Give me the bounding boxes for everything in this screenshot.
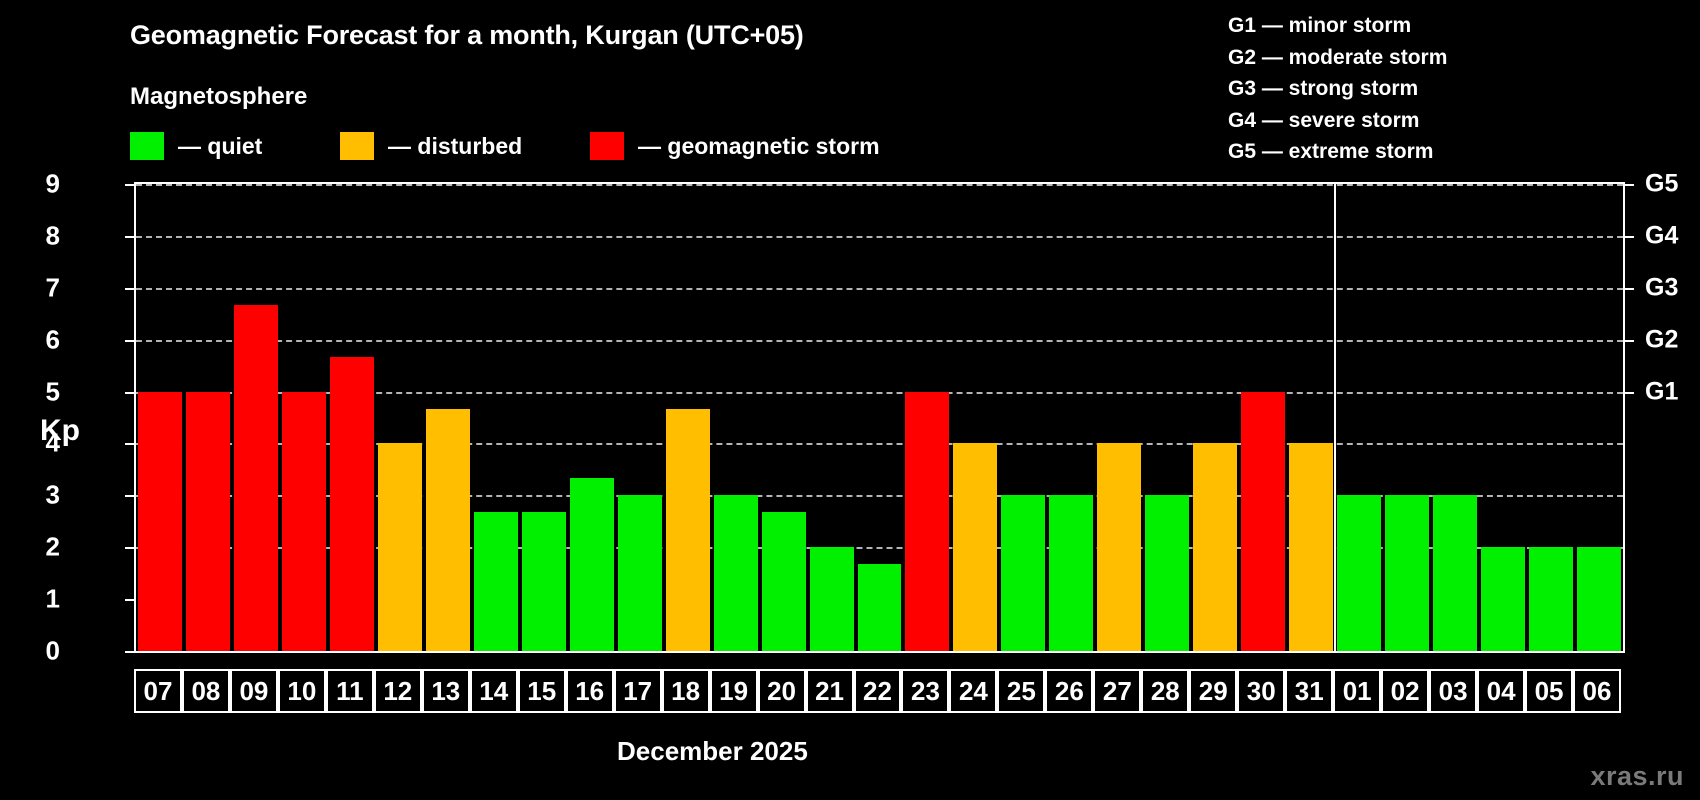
x-axis-date-labels: 0708091011121314151617181920212223242526…: [134, 669, 1625, 713]
date-cell-21: 21: [806, 669, 854, 713]
gridline-kp-7: [136, 288, 1623, 290]
geomagnetic-forecast-chart: Geomagnetic Forecast for a month, Kurgan…: [0, 0, 1700, 800]
y-tick-label-8: 8: [20, 220, 60, 251]
bar-08: [186, 392, 230, 651]
legend-label: — quiet: [178, 133, 262, 160]
bar-10: [282, 392, 326, 651]
bar-13: [426, 409, 470, 651]
legend-item-quiet: — quiet: [130, 131, 262, 161]
bar-22: [858, 564, 902, 651]
date-cell-15: 15: [518, 669, 566, 713]
gridline-kp-8: [136, 236, 1623, 238]
g-tick-label-G5: G5: [1645, 170, 1678, 199]
date-cell-02: 02: [1381, 669, 1429, 713]
date-cell-16: 16: [566, 669, 614, 713]
date-cell-09: 09: [230, 669, 278, 713]
y-tick-label-2: 2: [20, 532, 60, 563]
date-cell-23: 23: [901, 669, 949, 713]
date-cell-01: 01: [1333, 669, 1381, 713]
bar-11: [330, 357, 374, 651]
bar-17: [618, 495, 662, 651]
date-cell-03: 03: [1429, 669, 1477, 713]
y-tick-label-3: 3: [20, 480, 60, 511]
bar-20: [762, 512, 806, 651]
bar-25: [1001, 495, 1045, 651]
bar-09: [234, 305, 278, 651]
x-axis-title: December 2025: [617, 736, 808, 767]
g-tick-label-G4: G4: [1645, 221, 1678, 250]
legend-label: — geomagnetic storm: [638, 133, 880, 160]
forecast-divider: [1334, 184, 1336, 651]
date-cell-08: 08: [182, 669, 230, 713]
date-cell-11: 11: [326, 669, 374, 713]
gridline-kp-9: [136, 184, 1623, 186]
storm-scale-line-3: G3 — strong storm: [1228, 73, 1447, 105]
bar-06: [1577, 547, 1621, 651]
watermark: xras.ru: [1590, 761, 1684, 792]
date-cell-14: 14: [470, 669, 518, 713]
g-tick-label-G2: G2: [1645, 325, 1678, 354]
date-cell-10: 10: [278, 669, 326, 713]
gridline-kp-6: [136, 340, 1623, 342]
bar-29: [1193, 443, 1237, 651]
bar-01: [1337, 495, 1381, 651]
bar-07: [138, 392, 182, 651]
bar-23: [905, 392, 949, 651]
date-cell-18: 18: [662, 669, 710, 713]
date-cell-22: 22: [854, 669, 902, 713]
date-cell-30: 30: [1237, 669, 1285, 713]
date-cell-13: 13: [422, 669, 470, 713]
magnetosphere-label: Magnetosphere: [130, 83, 307, 111]
bar-14: [474, 512, 518, 651]
bar-28: [1145, 495, 1189, 651]
y-tick-label-7: 7: [20, 272, 60, 303]
y-tick-label-0: 0: [20, 636, 60, 667]
bar-02: [1385, 495, 1429, 651]
y-tick-label-1: 1: [20, 584, 60, 615]
legend-label: — disturbed: [388, 133, 522, 160]
date-cell-26: 26: [1045, 669, 1093, 713]
date-cell-31: 31: [1285, 669, 1333, 713]
date-cell-24: 24: [949, 669, 997, 713]
bar-15: [522, 512, 566, 651]
date-cell-06: 06: [1573, 669, 1621, 713]
date-cell-29: 29: [1189, 669, 1237, 713]
quiet-swatch: [130, 132, 164, 160]
bar-26: [1049, 495, 1093, 651]
storm-swatch: [590, 132, 624, 160]
y-tick-label-9: 9: [20, 169, 60, 200]
bar-24: [953, 443, 997, 651]
date-cell-07: 07: [134, 669, 182, 713]
date-cell-28: 28: [1141, 669, 1189, 713]
bar-27: [1097, 443, 1141, 651]
date-cell-20: 20: [758, 669, 806, 713]
disturbed-swatch: [340, 132, 374, 160]
storm-scale-legend: G1 — minor stormG2 — moderate stormG3 — …: [1228, 10, 1447, 168]
date-cell-27: 27: [1093, 669, 1141, 713]
y-axis-title: Kp: [40, 414, 80, 448]
date-cell-12: 12: [374, 669, 422, 713]
y-tick-label-5: 5: [20, 376, 60, 407]
g-tick-label-G3: G3: [1645, 273, 1678, 302]
storm-scale-line-1: G1 — minor storm: [1228, 10, 1447, 42]
legend-item-disturbed: — disturbed: [340, 131, 522, 161]
plot-area: [134, 182, 1625, 653]
bar-04: [1481, 547, 1525, 651]
bar-12: [378, 443, 422, 651]
y-tick-label-6: 6: [20, 324, 60, 355]
bar-30: [1241, 392, 1285, 651]
page-title: Geomagnetic Forecast for a month, Kurgan…: [130, 20, 804, 51]
g-tick-label-G1: G1: [1645, 377, 1678, 406]
bar-18: [666, 409, 710, 651]
date-cell-19: 19: [710, 669, 758, 713]
storm-scale-line-5: G5 — extreme storm: [1228, 136, 1447, 168]
bar-31: [1289, 443, 1333, 651]
date-cell-17: 17: [614, 669, 662, 713]
date-cell-04: 04: [1477, 669, 1525, 713]
storm-scale-line-2: G2 — moderate storm: [1228, 42, 1447, 74]
storm-scale-line-4: G4 — severe storm: [1228, 105, 1447, 137]
date-cell-25: 25: [997, 669, 1045, 713]
bar-21: [810, 547, 854, 651]
date-cell-05: 05: [1525, 669, 1573, 713]
bar-03: [1433, 495, 1477, 651]
bar-16: [570, 478, 614, 651]
bar-05: [1529, 547, 1573, 651]
legend-item-storm: — geomagnetic storm: [590, 131, 880, 161]
bar-19: [714, 495, 758, 651]
